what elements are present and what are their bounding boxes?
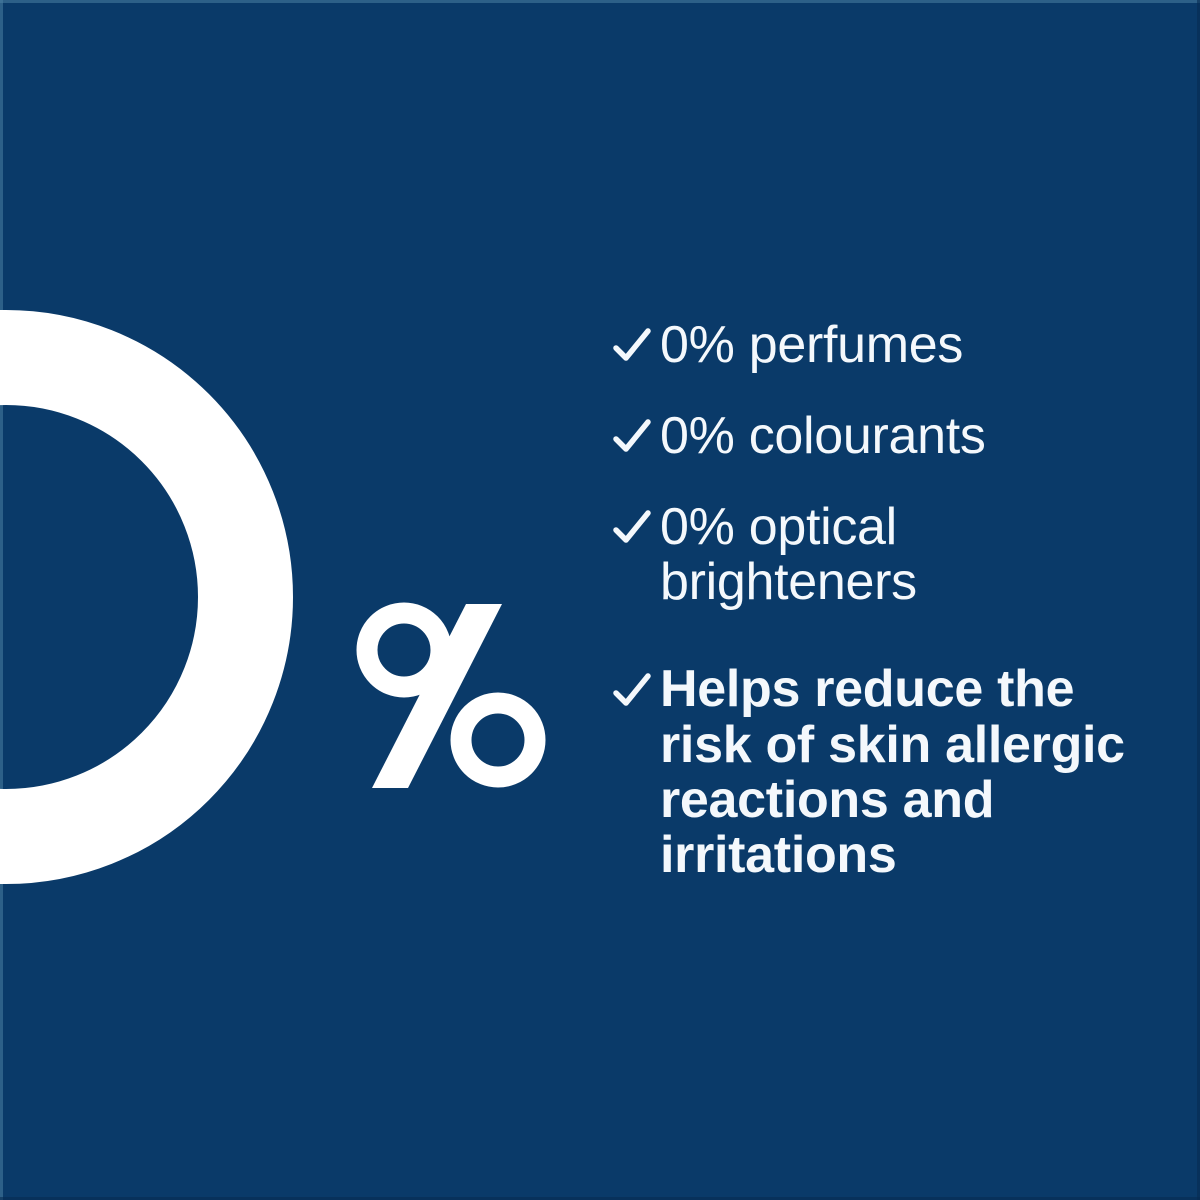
claims-list: 0% perfumes 0% colourants 0% optical bri…	[612, 318, 1152, 883]
zero-ring-icon	[0, 310, 293, 884]
list-item: Helps reduce the risk of skin allergic r…	[612, 662, 1152, 882]
percent-symbol-icon	[352, 600, 552, 792]
list-item: 0% colourants	[612, 409, 1152, 464]
claim-label: Helps reduce the risk of skin allergic r…	[660, 662, 1152, 882]
check-icon	[612, 500, 660, 552]
hero-zero-percent-graphic	[0, 0, 600, 1200]
check-icon	[612, 409, 660, 461]
zero-ring-stroke	[0, 310, 293, 884]
claim-label: 0% perfumes	[660, 318, 1152, 373]
promo-panel: 0% perfumes 0% colourants 0% optical bri…	[0, 0, 1200, 1200]
claim-label: 0% colourants	[660, 409, 1152, 464]
check-icon	[612, 662, 660, 714]
check-icon	[612, 318, 660, 370]
claim-label: 0% optical brighteners	[660, 500, 1152, 610]
list-item: 0% optical brighteners	[612, 500, 1152, 610]
list-item: 0% perfumes	[612, 318, 1152, 373]
